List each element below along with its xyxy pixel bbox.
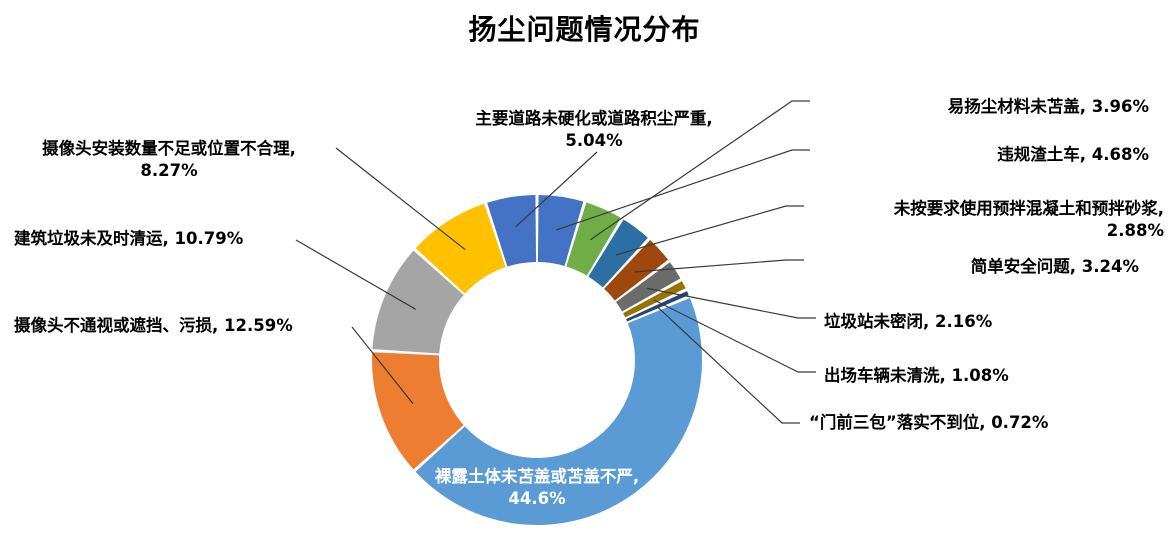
slice-label-vehicle-wash: 出场车辆未清洗, 1.08% bbox=[824, 365, 1164, 387]
slice-label-illegal-truck: 违规渣土车, 4.68% bbox=[789, 144, 1149, 166]
slice-label-camera-blocked: 摄像头不通视或遮挡、污损, 12.59% bbox=[14, 315, 364, 337]
slice-label-garbage-station: 垃圾站未密闭, 2.16% bbox=[824, 311, 1164, 333]
slice-label-main-road: 主要道路未硬化或道路积尘严重, 5.04% bbox=[404, 108, 784, 152]
slice-label-dust-material: 易扬尘材料未苫盖, 3.96% bbox=[789, 96, 1149, 118]
slice-label-bare-soil: 裸露土体未苫盖或苫盖不严, 44.6% bbox=[387, 466, 687, 510]
chart-canvas: 扬尘问题情况分布 主要道路未硬化或道路积尘严重, 5.04% 摄像头安装数量不足… bbox=[0, 0, 1169, 544]
leader-camera-count bbox=[336, 148, 465, 250]
slice-label-camera-count: 摄像头安装数量不足或位置不合理, 8.27% bbox=[4, 138, 334, 182]
slice-label-three-guarantees: “门前三包”落实不到位, 0.72% bbox=[809, 412, 1164, 434]
slice-label-simple-safety: 简单安全问题, 3.24% bbox=[789, 256, 1139, 278]
slice-label-construction-waste: 建筑垃圾未及时清运, 10.79% bbox=[14, 228, 334, 250]
slice-label-ready-mix: 未按要求使用预拌混凝土和预拌砂浆, 2.88% bbox=[649, 198, 1164, 242]
